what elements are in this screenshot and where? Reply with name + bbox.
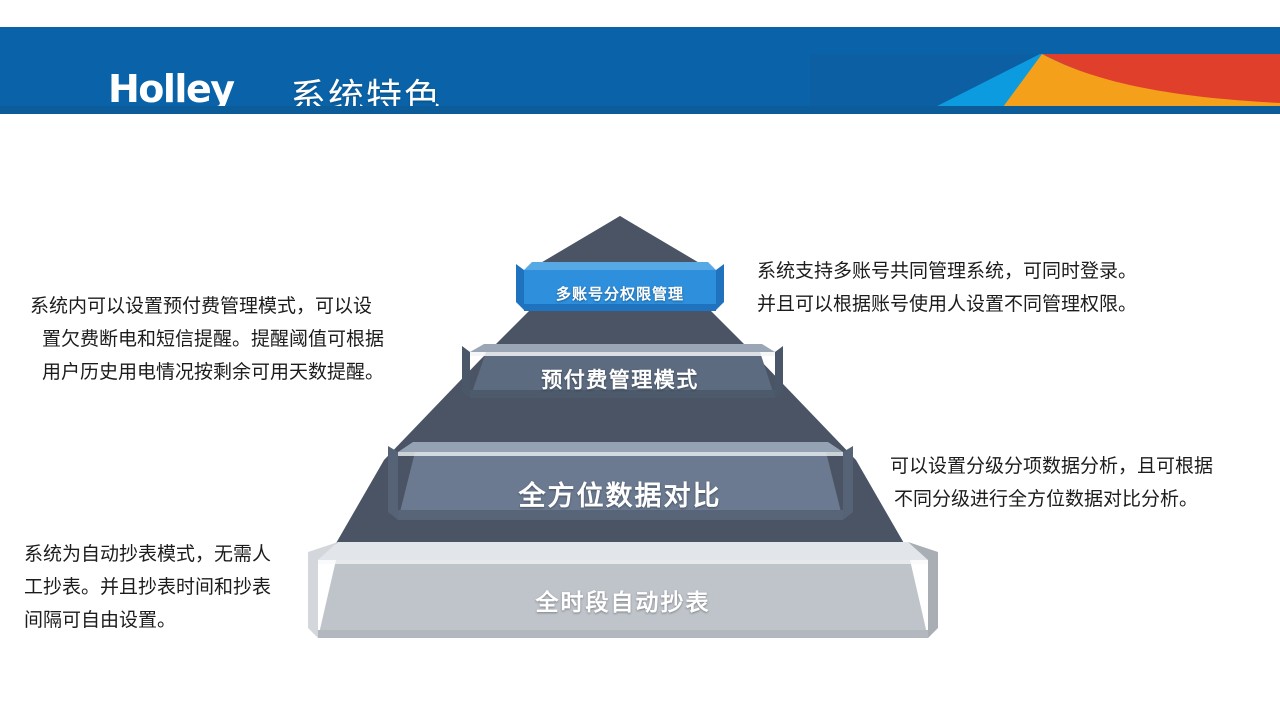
pyramid-level-4-label: 全时段自动抄表 (318, 583, 928, 617)
header-bar: Holley TECH 华立科技 系统特色 (0, 27, 1280, 114)
callout-top-right-line-2: 并且可以根据账号使用人设置不同管理权限。 (757, 288, 1137, 321)
callout-bottom-left-line-1: 系统为自动抄表模式，无需人 (24, 538, 271, 571)
decorative-swoosh (810, 27, 1280, 114)
callout-top-right: 系统支持多账号共同管理系统，可同时登录。 并且可以根据账号使用人设置不同管理权限… (757, 255, 1137, 321)
callout-bottom-left-line-3: 间隔可自由设置。 (24, 604, 271, 637)
callout-bottom-right-line-2: 不同分级进行全方位数据对比分析。 (890, 483, 1213, 516)
callout-top-right-line-1: 系统支持多账号共同管理系统，可同时登录。 (757, 255, 1137, 288)
callout-top-left-line-3: 用户历史用电情况按剩余可用天数提醒。 (30, 356, 384, 389)
slide-root: Holley TECH 华立科技 系统特色 (0, 0, 1280, 720)
callout-bottom-right-line-1: 可以设置分级分项数据分析，且可根据 (890, 450, 1213, 483)
callout-bottom-right: 可以设置分级分项数据分析，且可根据 不同分级进行全方位数据对比分析。 (890, 450, 1213, 516)
pyramid-level-2-label: 预付费管理模式 (465, 364, 775, 394)
logo-wordmark: Holley (108, 70, 234, 108)
pyramid-level-3-label: 全方位数据对比 (397, 474, 843, 513)
pyramid-level-1-label: 多账号分权限管理 (527, 283, 713, 304)
callout-top-left: 系统内可以设置预付费管理模式，可以设 置欠费断电和短信提醒。提醒阈值可根据 用户… (30, 290, 384, 389)
callout-bottom-left-line-2: 工抄表。并且抄表时间和抄表 (24, 571, 271, 604)
callout-bottom-left: 系统为自动抄表模式，无需人 工抄表。并且抄表时间和抄表 间隔可自由设置。 (24, 538, 271, 637)
header-underline (0, 106, 1280, 114)
callout-top-left-line-2: 置欠费断电和短信提醒。提醒阈值可根据 (30, 323, 384, 356)
callout-top-left-line-1: 系统内可以设置预付费管理模式，可以设 (30, 290, 384, 323)
